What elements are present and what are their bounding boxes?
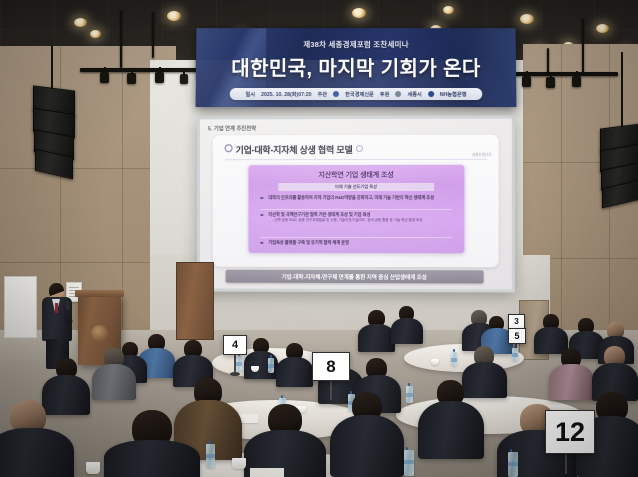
- side-whiteboard: [4, 276, 37, 338]
- spotlight: [127, 73, 136, 84]
- line-array-speaker-right: [598, 126, 638, 204]
- podium-emblem-icon: [91, 325, 108, 342]
- water-bottle: [406, 386, 413, 403]
- document-paper: [250, 468, 284, 477]
- speaker-suspension-rod: [51, 46, 53, 90]
- bullet-marker-icon: [225, 144, 233, 152]
- slide-bullet: 대학의 인프라를 활용하여 지역 기업의 R&D역량을 강화하고, 미래 기술 …: [260, 195, 456, 201]
- attendee-shoulders: [418, 401, 484, 459]
- event-banner: 제38차 세종경제포럼 조찬세미나 대한민국, 마지막 기회가 온다 일시 20…: [196, 28, 517, 107]
- ceiling-light: [74, 18, 87, 27]
- light-rod: [152, 12, 154, 58]
- line-array-speaker-left: [30, 88, 76, 180]
- sponsor2-logo-icon: [428, 91, 434, 97]
- banner-date-label: 일시: [245, 91, 255, 98]
- spotlight: [546, 77, 555, 88]
- table-number-sign: 4: [223, 335, 247, 355]
- attendee-shoulders: [358, 324, 395, 352]
- table-number-sign: 12: [545, 410, 595, 454]
- attendee-shoulders: [0, 428, 74, 477]
- attendee-shoulders: [276, 357, 313, 387]
- banner-date: 2025. 10. 28(화)07:20: [261, 91, 311, 98]
- banner-subtitle: 제38차 세종경제포럼 조찬세미나: [196, 39, 516, 50]
- bullet-divider: [260, 237, 452, 238]
- water-bottle: [404, 450, 414, 476]
- bullet-marker-end-icon: [356, 145, 363, 152]
- projection-screen: 5. 기업 연계 추진전략 세종산업단지 기업-대학-지자체 상생 협력 모델 …: [197, 115, 515, 292]
- bullet-icon: [260, 241, 263, 244]
- attendee-shoulders: [330, 415, 404, 477]
- host-logo-icon: [333, 91, 339, 97]
- banner-sponsor: 세종시: [407, 91, 421, 98]
- coffee-cup: [232, 458, 246, 469]
- slide-card: 세종산업단지 기업-대학-지자체 상생 협력 모델 지산학연 기업 생태계 조성…: [213, 135, 499, 268]
- presenter-tie: [55, 303, 58, 313]
- ceiling-light: [520, 14, 534, 24]
- ceiling-light: [352, 8, 366, 18]
- table-number-sign: 3: [508, 314, 525, 329]
- banner-host: 한국경제신문: [345, 91, 374, 98]
- spotlight: [155, 72, 164, 83]
- highlight-box-subtitle-bar: 미래 기술 선도기업 육성: [278, 183, 434, 191]
- light-rod: [547, 48, 549, 74]
- banner-host-label: 주관: [318, 91, 328, 98]
- water-bottle: [236, 356, 242, 371]
- sign-stand: [234, 352, 236, 373]
- water-bottle: [512, 348, 518, 361]
- ceiling-light: [167, 11, 181, 21]
- water-bottle: [508, 452, 518, 477]
- water-bottle: [268, 358, 274, 373]
- light-rod: [120, 10, 122, 68]
- slide-bullet: 기업육성 플랫폼 구축 및 유기적 협력 체계 운영: [260, 240, 456, 246]
- banner-info-strip: 일시 2025. 10. 28(화)07:20 주관 한국경제신문 후원 세종시…: [230, 88, 483, 100]
- light-track: [80, 68, 200, 72]
- slide-highlight-box: 지산학연 기업 생태계 조성 미래 기술 선도기업 육성 대학의 인프라를 활용…: [248, 165, 464, 253]
- slide-divider: [225, 159, 487, 160]
- slide-title: 기업-대학-지자체 상생 협력 모델: [225, 143, 363, 156]
- wooden-door: [176, 262, 214, 340]
- podium-top: [75, 290, 124, 297]
- attendee-shoulders: [104, 440, 200, 477]
- spotlight: [100, 72, 109, 83]
- slide-meta: 세종산업단지: [472, 152, 492, 157]
- coffee-cup: [86, 462, 100, 474]
- spotlight: [572, 76, 581, 87]
- attendee-shoulders: [462, 362, 507, 398]
- presentation-slide: 5. 기업 연계 추진전략 세종산업단지 기업-대학-지자체 상생 협력 모델 …: [200, 119, 512, 290]
- light-rod: [582, 18, 584, 74]
- attendee-shoulders: [92, 364, 136, 400]
- spotlight: [180, 74, 188, 84]
- ceiling-light: [90, 30, 101, 38]
- table-number-sign: 5: [508, 328, 526, 344]
- slide-section-header: 5. 기업 연계 추진전략: [208, 124, 256, 132]
- slide-footer-banner: 기업-대학-지자체-연구제 연계를 통한 지역 중심 산업생태계 조성: [226, 270, 484, 284]
- water-bottle: [206, 444, 215, 468]
- ceiling-light: [596, 24, 609, 33]
- highlight-box-title: 지산학연 기업 생태계 조성: [248, 170, 464, 180]
- ceiling-light: [443, 6, 454, 14]
- bullet-divider: [260, 209, 452, 210]
- bullet-icon: [260, 197, 263, 200]
- banner-headline: 대한민국, 마지막 기회가 온다: [196, 52, 516, 81]
- banner-sponsor2: NH농협은행: [440, 91, 467, 98]
- slide-bullet: 지산학 및 국책연구기관 협력 기반 생태계 조성 및 기업 육성 - 산학 공…: [260, 212, 456, 223]
- speaker-suspension-rod: [621, 52, 623, 128]
- attendee-shoulders: [42, 375, 90, 415]
- presenter: [40, 283, 74, 369]
- attendee-shoulders: [391, 318, 423, 344]
- attendee-shoulders: [549, 364, 594, 400]
- microphone-icon: [66, 301, 69, 310]
- banner-sponsor-label: 후원: [380, 91, 390, 98]
- bullet-icon: [260, 213, 263, 216]
- sign-stand: [330, 378, 332, 400]
- conference-hall-photo: 제38차 세종경제포럼 조찬세미나 대한민국, 마지막 기회가 온다 일시 20…: [0, 0, 638, 477]
- sign-stand: [565, 452, 567, 474]
- water-bottle: [451, 352, 457, 366]
- table-number-sign: 8: [312, 352, 350, 381]
- sponsor-logo-icon: [395, 91, 401, 97]
- spotlight: [522, 76, 531, 87]
